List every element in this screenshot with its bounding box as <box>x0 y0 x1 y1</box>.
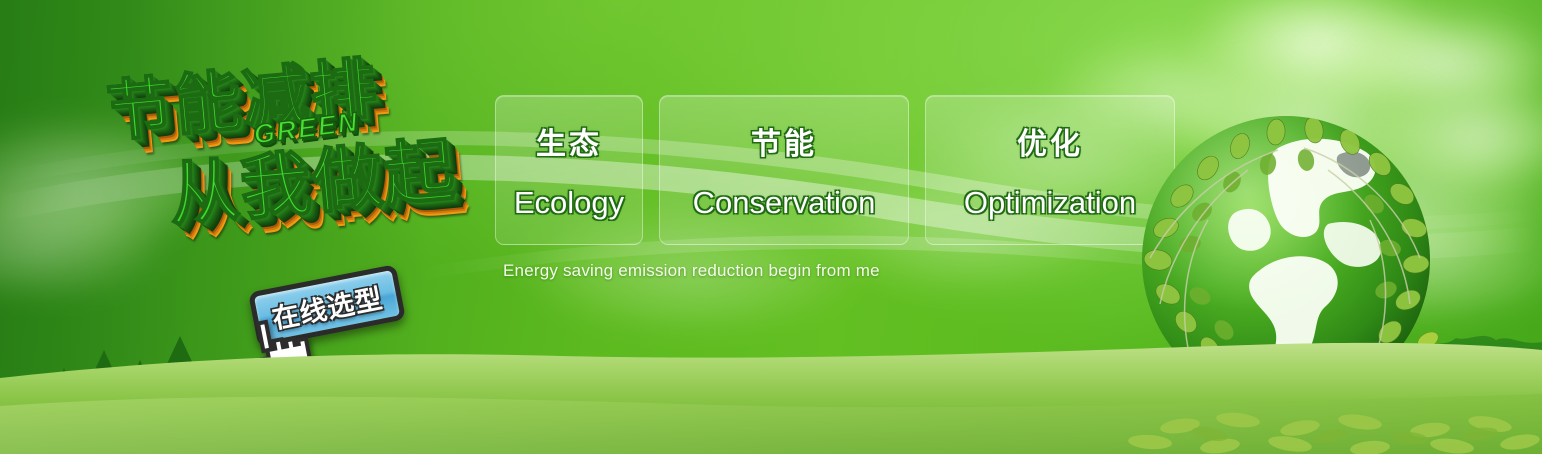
feature-card-en-label: Conservation <box>693 185 876 221</box>
feature-card-en-label: Optimization <box>964 185 1136 221</box>
feature-card-cn-label: 优化 <box>1017 119 1083 163</box>
feature-card-en-label: Ecology <box>514 185 624 221</box>
green-energy-banner: 节能减排 GREEN 从我做起 在线选型 生态 Ecology 节能 Conse… <box>0 0 1542 454</box>
feature-card-ecology[interactable]: 生态 Ecology <box>495 95 643 245</box>
feature-card-cn-label: 生态 <box>536 119 602 163</box>
grass-field <box>0 334 1542 454</box>
feature-card-conservation[interactable]: 节能 Conservation <box>659 95 909 245</box>
headline-group: 节能减排 GREEN 从我做起 <box>98 25 497 288</box>
banner-tagline: Energy saving emission reduction begin f… <box>503 261 880 281</box>
feature-card-cn-label: 节能 <box>751 119 817 163</box>
feature-card-list: 生态 Ecology 节能 Conservation 优化 Optimizati… <box>495 95 1175 245</box>
